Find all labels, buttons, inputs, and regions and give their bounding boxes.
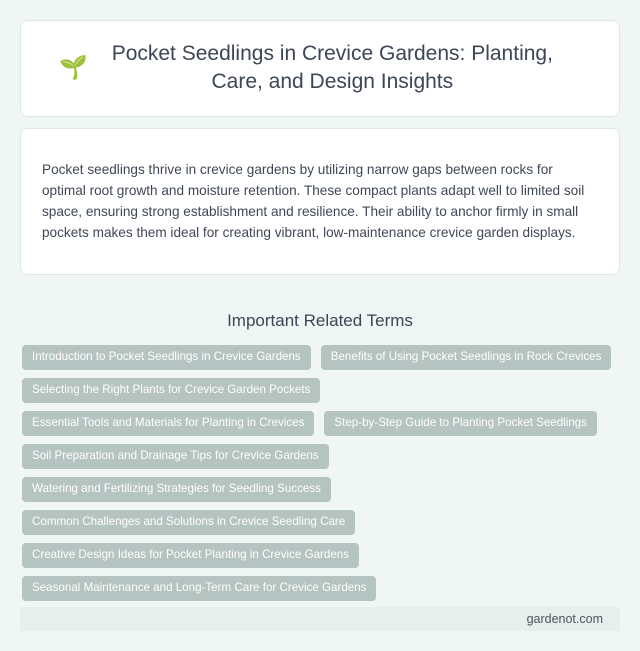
header-card: 🌱 Pocket Seedlings in Crevice Gardens: P… — [20, 20, 620, 117]
related-term-tag[interactable]: Step-by-Step Guide to Planting Pocket Se… — [324, 411, 597, 436]
related-term-tag[interactable]: Common Challenges and Solutions in Crevi… — [22, 510, 355, 535]
related-term-tag[interactable]: Soil Preparation and Drainage Tips for C… — [22, 444, 329, 469]
related-term-tag[interactable]: Essential Tools and Materials for Planti… — [22, 411, 314, 436]
related-terms-list: Introduction to Pocket Seedlings in Crev… — [20, 345, 620, 601]
related-term-tag[interactable]: Creative Design Ideas for Pocket Plantin… — [22, 543, 359, 568]
summary-paragraph: Pocket seedlings thrive in crevice garde… — [42, 159, 599, 243]
summary-card: Pocket seedlings thrive in crevice garde… — [20, 128, 620, 275]
related-term-tag[interactable]: Benefits of Using Pocket Seedlings in Ro… — [321, 345, 612, 370]
related-terms-section: Important Related Terms Introduction to … — [20, 296, 620, 601]
seedling-icon: 🌱 — [59, 56, 88, 79]
footer-bar: gardenot.com — [20, 607, 620, 631]
related-term-tag[interactable]: Watering and Fertilizing Strategies for … — [22, 477, 331, 502]
related-term-tag[interactable]: Introduction to Pocket Seedlings in Crev… — [22, 345, 311, 370]
related-terms-heading: Important Related Terms — [20, 310, 620, 332]
page-root: 🌱 Pocket Seedlings in Crevice Gardens: P… — [0, 0, 640, 651]
page-title: Pocket Seedlings in Crevice Gardens: Pla… — [104, 40, 595, 96]
footer-site-name: gardenot.com — [527, 611, 603, 627]
related-term-tag[interactable]: Selecting the Right Plants for Crevice G… — [22, 378, 320, 403]
related-term-tag[interactable]: Seasonal Maintenance and Long-Term Care … — [22, 576, 376, 601]
